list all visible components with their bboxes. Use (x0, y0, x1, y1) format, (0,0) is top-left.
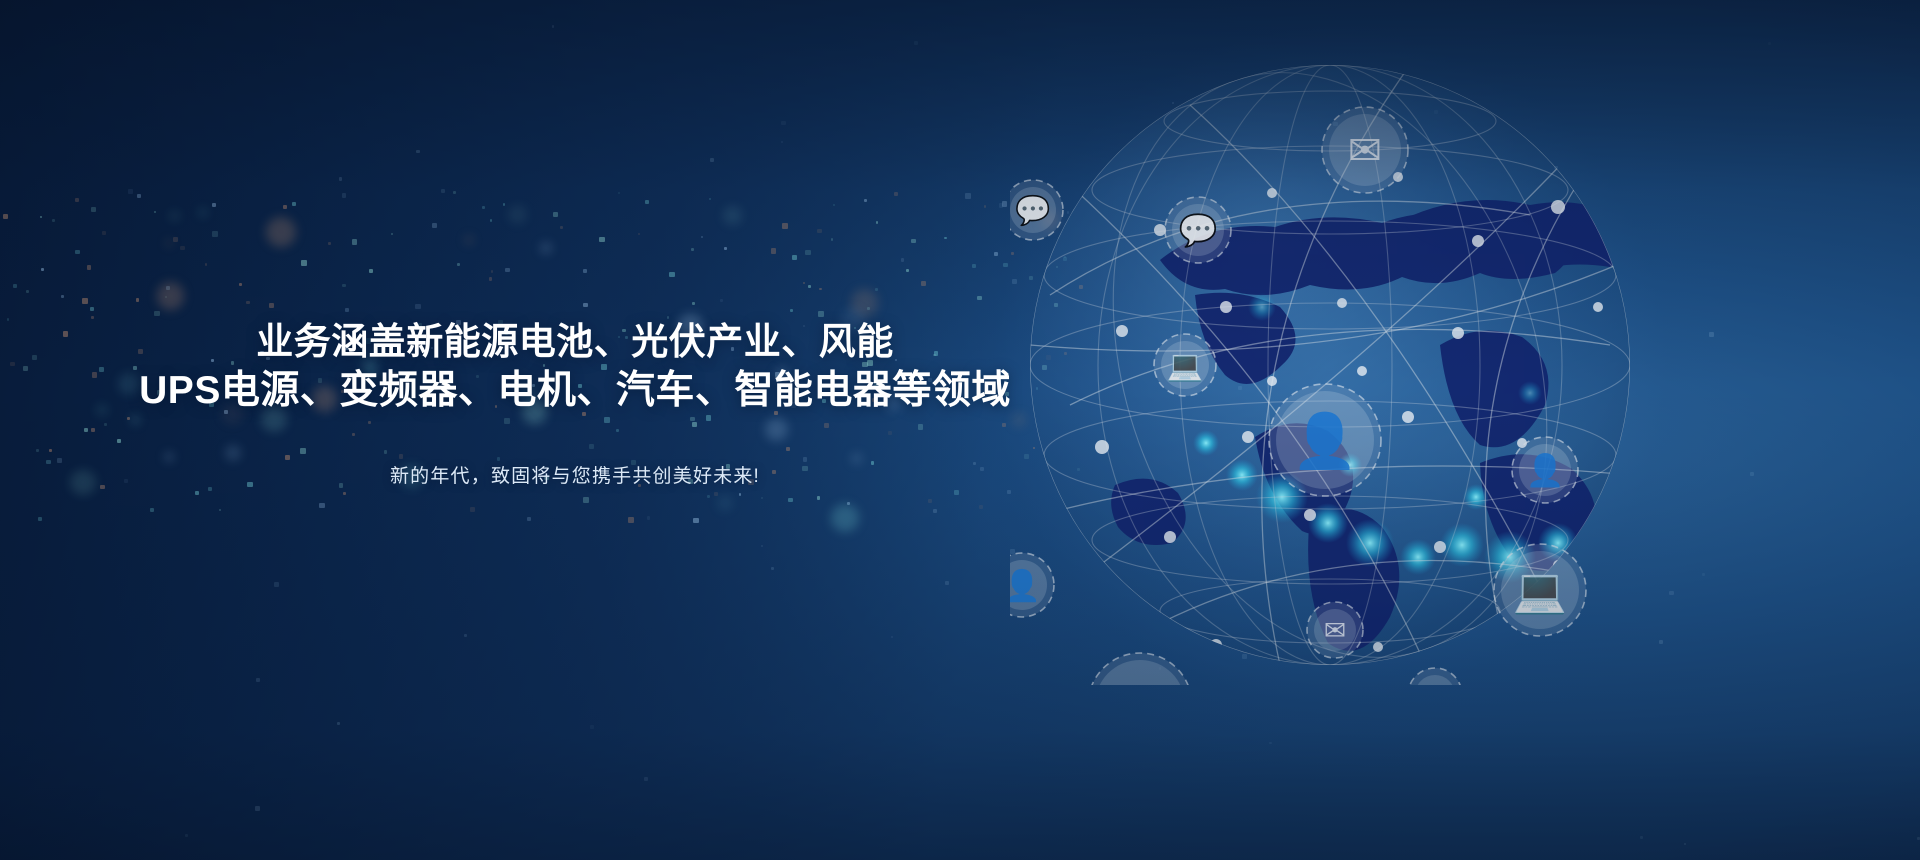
hero-banner: ✉💬💬💻👤👤👤💻✉✉✉💬 业务涵盖新能源电池、光伏产业、风能 UPS电源、变频器… (0, 0, 1920, 860)
banner-headline: 业务涵盖新能源电池、光伏产业、风能 UPS电源、变频器、电机、汽车、智能电器等领… (0, 318, 1150, 417)
banner-subtitle: 新的年代，致固将与您携手共创美好未来! (0, 461, 1150, 488)
banner-copy: 业务涵盖新能源电池、光伏产业、风能 UPS电源、变频器、电机、汽车、智能电器等领… (0, 318, 1150, 488)
headline-line-2: UPS电源、变频器、电机、汽车、智能电器等领域 (0, 366, 1150, 417)
headline-line-1: 业务涵盖新能源电池、光伏产业、风能 (0, 318, 1150, 366)
